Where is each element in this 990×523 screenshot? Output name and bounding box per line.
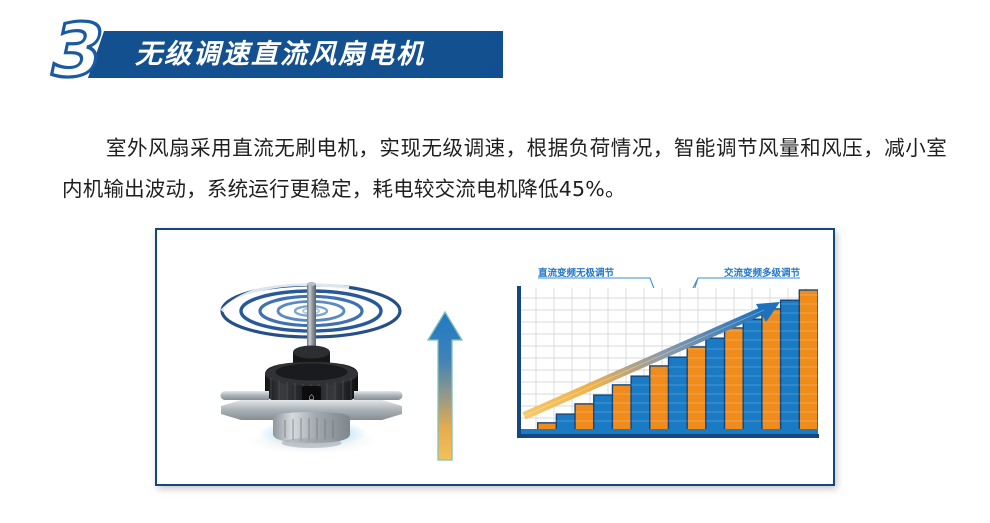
chart-bar — [725, 328, 744, 436]
chart-bar — [687, 347, 706, 436]
chart-bar — [743, 319, 762, 436]
ac-inverter-multistage-label: 交流变频多级调节 — [724, 267, 801, 279]
chart-canvas: 直流变频无极调节 交流变频多级调节 — [502, 266, 822, 481]
chart-bar — [799, 290, 818, 436]
chart-bar — [612, 385, 631, 436]
page-title: 无级调速直流风扇电机 — [135, 34, 425, 76]
dc-inverter-stepless-label: 直流变频无极调节 — [538, 267, 615, 279]
fan-motor-figure: ⌂ — [207, 268, 417, 468]
motor-body-graphic: ⌂ — [207, 268, 417, 468]
chart-bar — [762, 309, 781, 436]
illustration-panel: ⌂ — [155, 228, 835, 486]
staircase-bar-chart: 直流变频无极调节 交流变频多级调节 — [502, 266, 822, 481]
chart-bar — [669, 357, 688, 436]
chart-bar — [650, 366, 669, 436]
upward-gradient-arrow-icon — [425, 310, 465, 462]
body-paragraph: 室外风扇采用直流无刷电机，实现无级调速，根据负荷情况，智能调节风量和风压，减小室… — [62, 128, 947, 210]
section-header-banner: 3 无级调速直流风扇电机 — [0, 0, 990, 100]
chart-bar — [781, 300, 800, 436]
